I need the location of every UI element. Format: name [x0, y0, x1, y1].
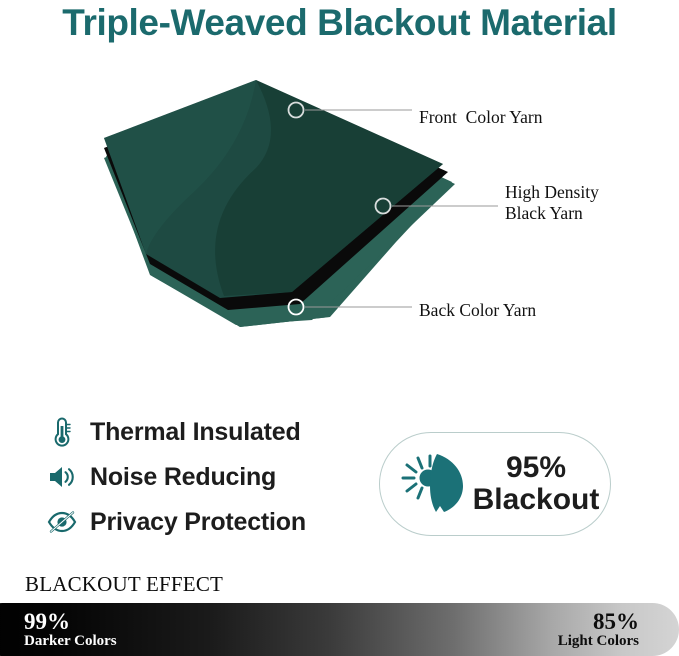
product-infographic: Triple-Weaved Blackout Material	[0, 0, 679, 656]
feature-item-noise-reducing: Noise Reducing	[47, 457, 357, 497]
callout-label-back-color-yarn: Back Color Yarn	[419, 300, 536, 321]
blackout-effect-gradient-bar: 99% Darker Colors 85% Light Colors	[0, 603, 679, 656]
sun-blocked-by-curtain-icon	[398, 449, 470, 519]
eye-slash-icon	[47, 506, 77, 538]
gradient-bar-label-light: 85% Light Colors	[558, 610, 639, 650]
badge-percent: 95%	[470, 452, 602, 484]
page-title: Triple-Weaved Blackout Material	[0, 2, 679, 44]
callout-label-high-density-black-yarn: High Density Black Yarn	[505, 182, 599, 225]
blackout-effect-heading: BLACKOUT EFFECT	[25, 572, 223, 597]
feature-item-privacy-protection: Privacy Protection	[47, 502, 357, 542]
dark-sublabel: Darker Colors	[24, 634, 117, 650]
badge-word: Blackout	[470, 484, 602, 516]
dark-percent: 99%	[24, 610, 117, 634]
gradient-bar-label-dark: 99% Darker Colors	[24, 610, 117, 650]
light-sublabel: Light Colors	[558, 634, 639, 650]
feature-item-thermal-insulated: Thermal Insulated	[47, 412, 357, 452]
blackout-badge: 95% Blackout	[379, 432, 611, 536]
light-percent: 85%	[558, 610, 639, 634]
thermometer-icon	[47, 416, 77, 448]
feature-label: Noise Reducing	[90, 463, 276, 492]
badge-text: 95% Blackout	[470, 452, 610, 517]
speaker-sound-icon	[47, 461, 77, 493]
callout-label-front-color-yarn: Front Color Yarn	[419, 107, 543, 128]
feature-label: Privacy Protection	[90, 508, 306, 537]
feature-list: Thermal Insulated Noise Reducing	[47, 412, 357, 547]
feature-label: Thermal Insulated	[90, 418, 301, 447]
